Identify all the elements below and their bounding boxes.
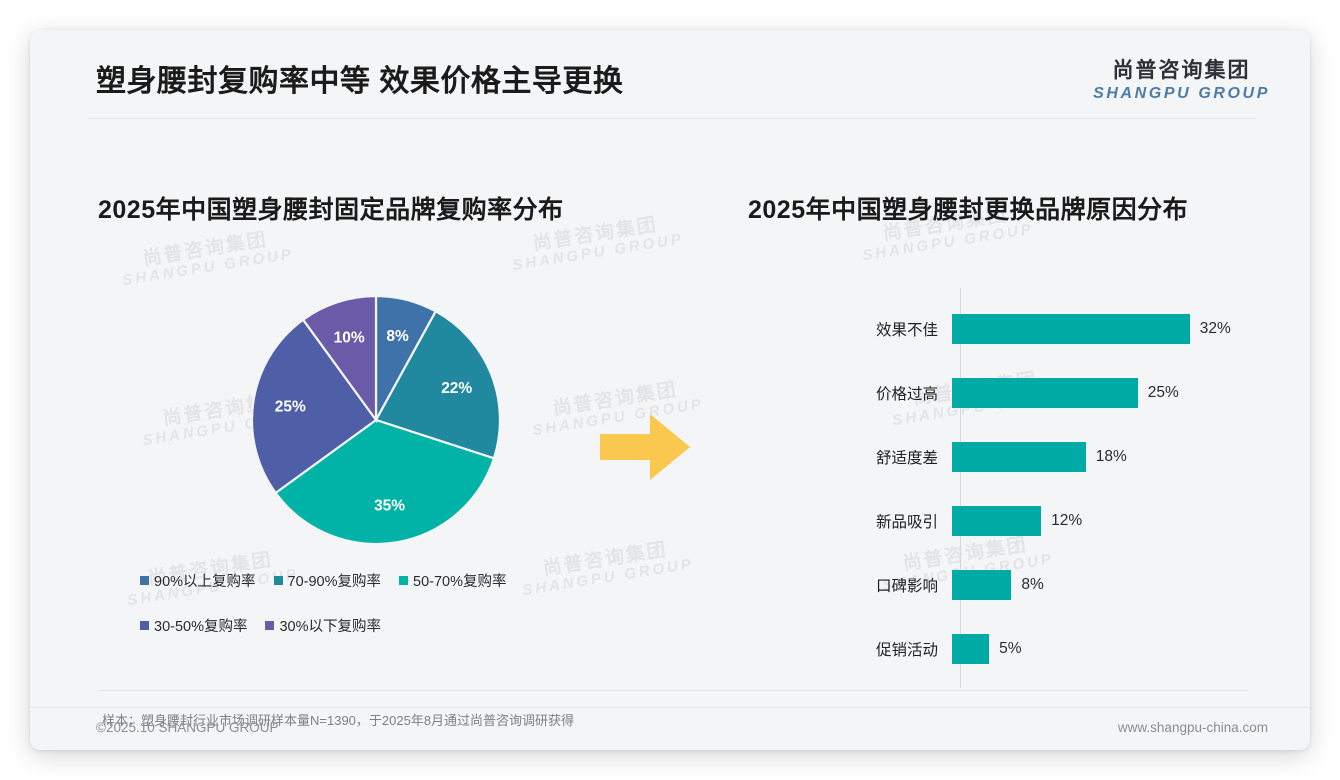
bar-fill[interactable]: [952, 378, 1138, 408]
pie-slice-label: 10%: [334, 329, 365, 346]
logo-text-en: SHANGPU GROUP: [1093, 85, 1270, 103]
copyright-text: ©2025.10 SHANGPU GROUP: [96, 720, 279, 735]
legend-swatch-icon: [399, 576, 408, 585]
legend-item[interactable]: 50-70%复购率: [399, 570, 506, 591]
pie-slice-label: 22%: [441, 380, 472, 397]
bar-value-label: 32%: [1200, 320, 1231, 338]
pie-slice-label: 8%: [386, 328, 409, 345]
bar-value-label: 12%: [1051, 512, 1082, 530]
legend-swatch-icon: [140, 576, 149, 585]
bar-category-label: 促销活动: [770, 638, 952, 660]
pie-legend: 90%以上复购率70-90%复购率50-70%复购率30-50%复购率30%以下…: [140, 570, 610, 660]
left-chart-title: 2025年中国塑身腰封固定品牌复购率分布: [98, 190, 564, 226]
legend-swatch-icon: [265, 621, 274, 630]
brand-logo: 尚普咨询集团 SHANGPU GROUP: [1093, 54, 1270, 103]
bar-row[interactable]: 效果不佳32%: [770, 314, 1270, 344]
bar-fill[interactable]: [952, 570, 1011, 600]
legend-label: 30%以下复购率: [279, 615, 381, 636]
arrow-shape: [600, 414, 690, 480]
legend-label: 30-50%复购率: [154, 615, 247, 636]
legend-label: 90%以上复购率: [154, 570, 256, 591]
bar-row[interactable]: 新品吸引12%: [770, 506, 1270, 536]
legend-swatch-icon: [140, 621, 149, 630]
watermark-en: SHANGPU GROUP: [861, 221, 1035, 264]
bar-category-label: 价格过高: [770, 382, 952, 404]
bar-fill[interactable]: [952, 506, 1041, 536]
bar-category-label: 效果不佳: [770, 318, 952, 340]
bar-row[interactable]: 价格过高25%: [770, 378, 1270, 408]
bar-category-label: 舒适度差: [770, 446, 952, 468]
watermark-en: SHANGPU GROUP: [511, 231, 685, 274]
legend-item[interactable]: 30%以下复购率: [265, 615, 381, 636]
bar-value-label: 25%: [1148, 384, 1179, 402]
bar-row[interactable]: 舒适度差18%: [770, 442, 1270, 472]
right-arrow-icon: [600, 408, 692, 491]
pie-slice-label: 35%: [374, 498, 405, 515]
bar-value-label: 5%: [999, 640, 1021, 658]
header-divider: [88, 118, 1256, 119]
logo-text-cn: 尚普咨询集团: [1093, 54, 1270, 84]
bar-category-label: 新品吸引: [770, 510, 952, 532]
bar-fill[interactable]: [952, 634, 989, 664]
watermark-cn: 尚普咨询集团: [118, 227, 292, 274]
footnote-divider: [98, 690, 1248, 691]
bar-fill[interactable]: [952, 442, 1086, 472]
right-chart-title: 2025年中国塑身腰封更换品牌原因分布: [748, 190, 1188, 226]
page-title: 塑身腰封复购率中等 效果价格主导更换: [96, 56, 623, 100]
legend-label: 70-90%复购率: [288, 570, 381, 591]
bar-row[interactable]: 口碑影响8%: [770, 570, 1270, 600]
bar-chart: 效果不佳32%价格过高25%舒适度差18%新品吸引12%口碑影响8%促销活动5%: [770, 288, 1270, 688]
bar-row[interactable]: 促销活动5%: [770, 634, 1270, 664]
bar-fill[interactable]: [952, 314, 1190, 344]
slide-footer: ©2025.10 SHANGPU GROUP www.shangpu-china…: [30, 707, 1310, 750]
legend-label: 50-70%复购率: [413, 570, 506, 591]
website-text[interactable]: www.shangpu-china.com: [1118, 720, 1268, 735]
bar-value-label: 18%: [1096, 448, 1127, 466]
bar-chart-axis-line: [960, 288, 961, 688]
slide-card: 尚普咨询集团SHANGPU GROUP 尚普咨询集团SHANGPU GROUP …: [30, 30, 1310, 750]
pie-chart: 8%22%35%25%10%: [250, 294, 502, 546]
bar-category-label: 口碑影响: [770, 574, 952, 596]
legend-swatch-icon: [274, 576, 283, 585]
legend-item[interactable]: 30-50%复购率: [140, 615, 247, 636]
legend-item[interactable]: 70-90%复购率: [274, 570, 381, 591]
legend-item[interactable]: 90%以上复购率: [140, 570, 256, 591]
watermark-en: SHANGPU GROUP: [121, 246, 295, 289]
slide-header: 塑身腰封复购率中等 效果价格主导更换 尚普咨询集团 SHANGPU GROUP: [30, 30, 1310, 120]
pie-chart-svg: 8%22%35%25%10%: [250, 294, 502, 546]
pie-slice-label: 25%: [275, 398, 306, 415]
bar-value-label: 8%: [1021, 576, 1043, 594]
